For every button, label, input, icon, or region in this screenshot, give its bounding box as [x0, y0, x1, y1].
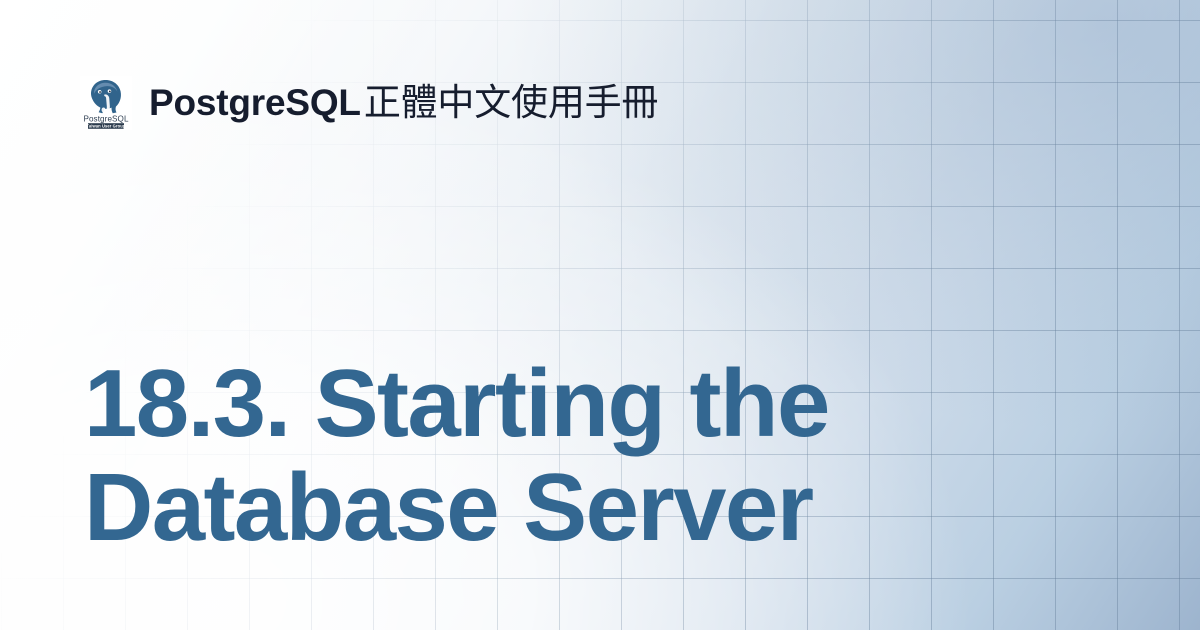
svg-text:Taiwan User Group: Taiwan User Group: [87, 124, 126, 129]
postgresql-elephant-logo-icon: PostgreSQL Taiwan User Group: [80, 76, 132, 130]
site-header: PostgreSQL Taiwan User Group PostgreSQL正…: [80, 76, 658, 130]
site-title-brand: PostgreSQL: [149, 82, 361, 123]
page-title-line-1: 18.3. Starting the: [84, 352, 944, 456]
svg-text:PostgreSQL: PostgreSQL: [83, 114, 128, 123]
site-title: PostgreSQL正體中文使用手冊: [149, 82, 658, 123]
page-title-line-2: Database Server: [84, 456, 944, 560]
site-title-subtitle-zh: 正體中文使用手冊: [364, 82, 658, 123]
og-preview-card: PostgreSQL Taiwan User Group PostgreSQL正…: [0, 0, 1200, 630]
page-title: 18.3. Starting the Database Server: [84, 352, 944, 559]
